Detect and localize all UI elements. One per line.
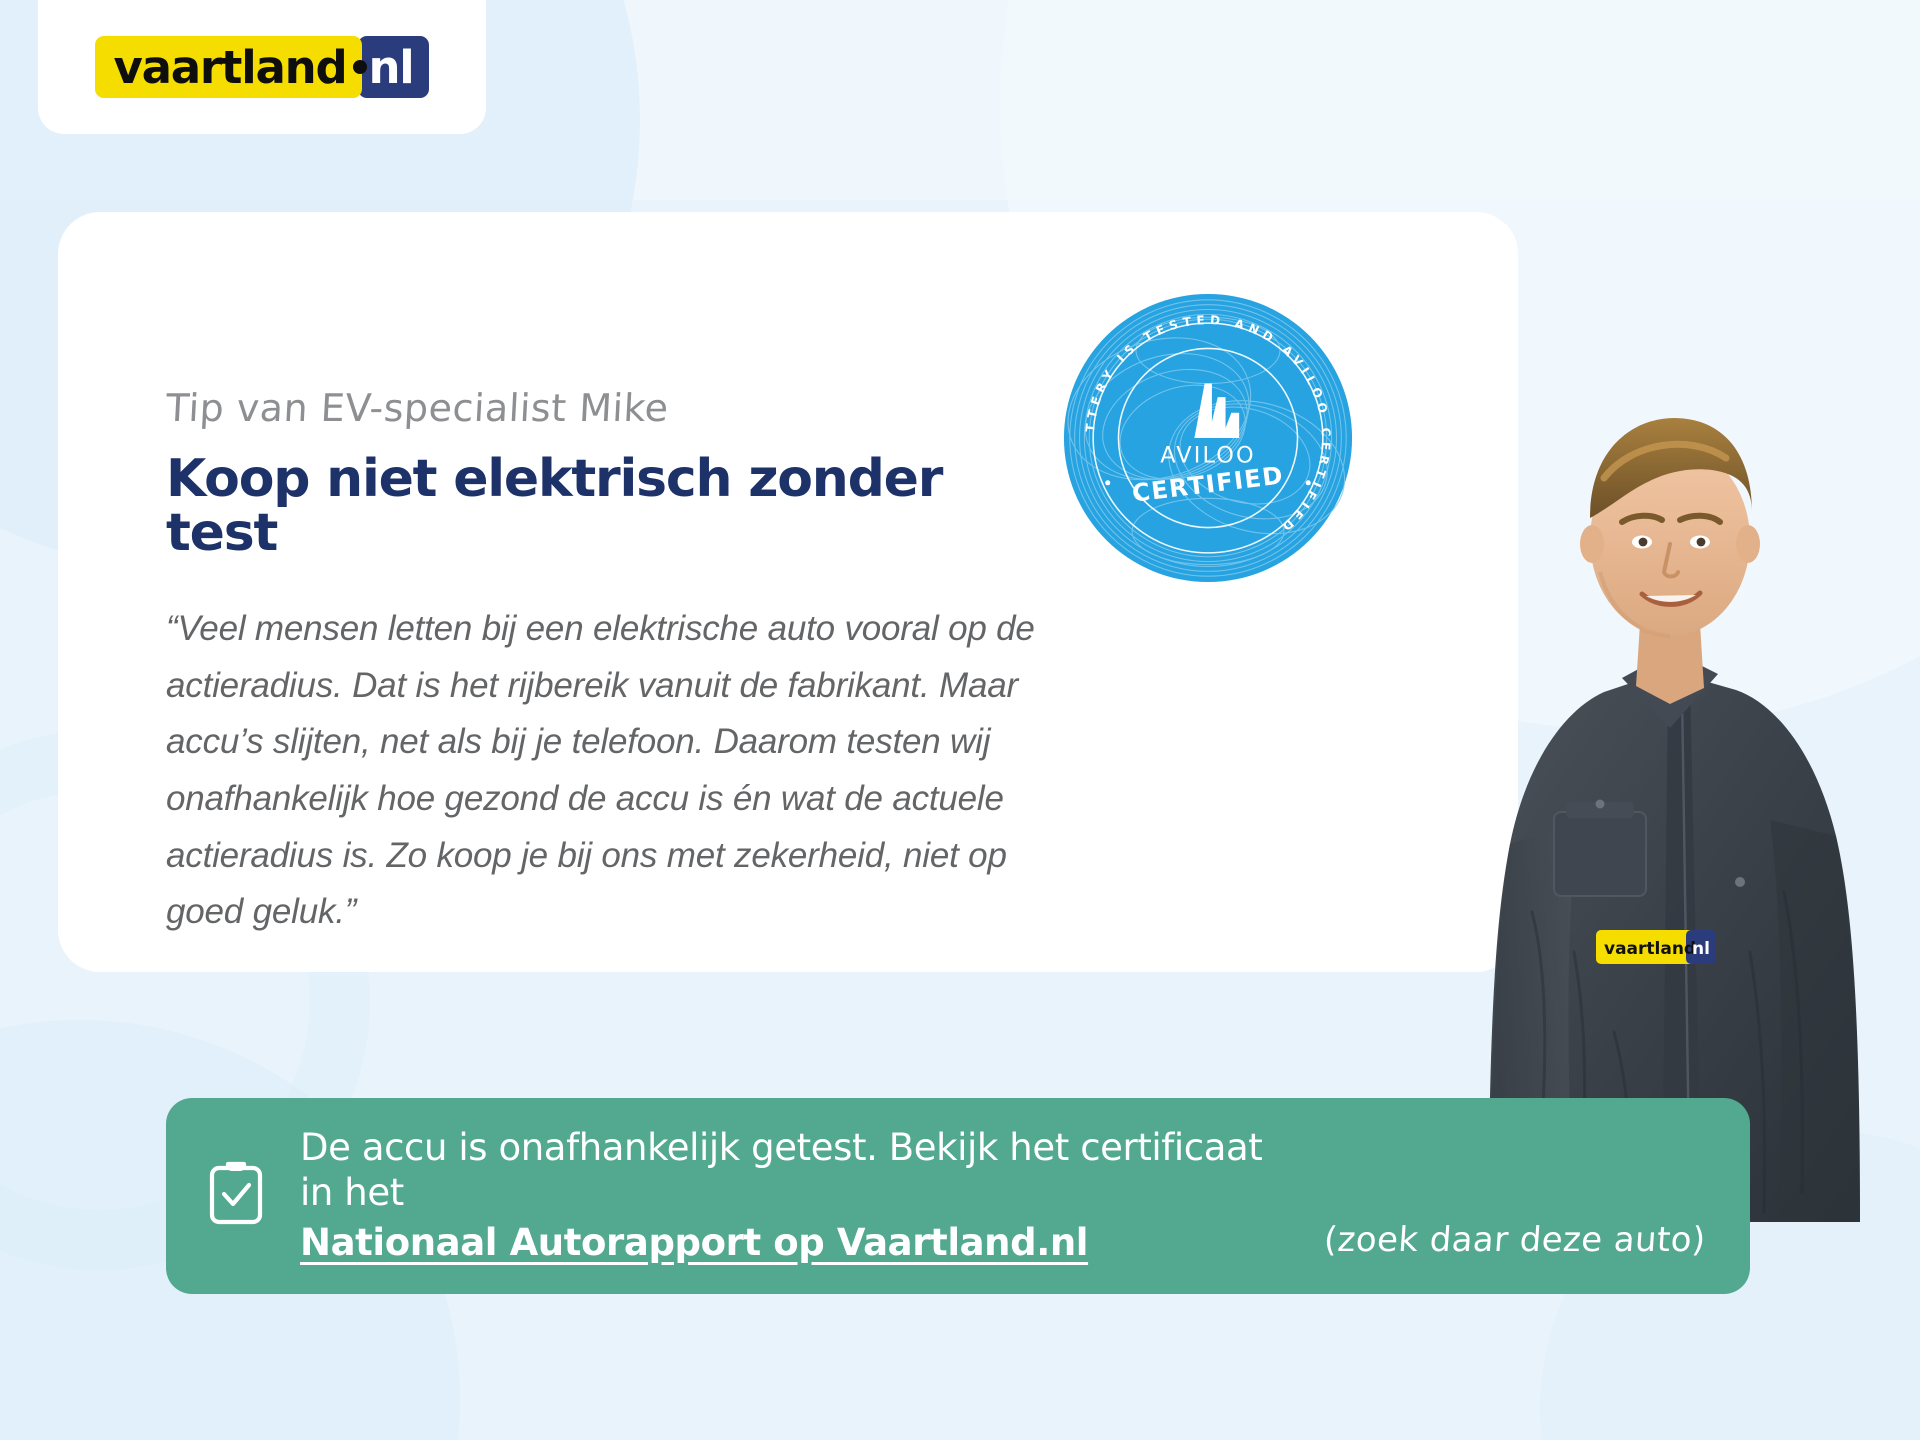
eyebrow-label: Tip van EV-specialist Mike	[165, 388, 1047, 430]
clipboard-check-icon	[206, 1160, 266, 1226]
logo-wordmark-yellow: vaartland	[95, 36, 362, 98]
uniform-patch: vaartland nl	[1596, 930, 1716, 964]
banner-handwritten-note: (zoek daar deze auto)	[1323, 1220, 1707, 1260]
logo-inner: vaartland nl	[95, 36, 428, 98]
svg-text:nl: nl	[1692, 939, 1710, 959]
banner-description: De accu is onafhankelijk getest. Bekijk …	[300, 1125, 1300, 1215]
logo-tld-text: nl	[368, 45, 413, 90]
certificate-banner[interactable]: De accu is onafhankelijk getest. Bekijk …	[166, 1098, 1750, 1294]
svg-text:vaartland: vaartland	[1604, 939, 1696, 959]
logo-tld-badge: nl	[358, 36, 428, 98]
page-title: Koop niet elektrisch zonder test	[166, 452, 1046, 561]
autorapport-link[interactable]: Nationaal Autorapport op Vaartland.nl	[300, 1219, 1088, 1267]
quote-text: “Veel mensen letten bij een elektrische …	[166, 601, 1046, 941]
card-content: Tip van EV-specialist Mike Koop niet ele…	[166, 388, 1046, 941]
logo-wordmark-text: vaartland	[113, 45, 346, 90]
aviloo-certified-badge: THIS BATTERY IS TESTED AND AVILOO CERTIF…	[1062, 292, 1354, 584]
banner-text-block: De accu is onafhankelijk getest. Bekijk …	[300, 1125, 1300, 1267]
vaartland-logo[interactable]: vaartland nl	[38, 0, 486, 134]
